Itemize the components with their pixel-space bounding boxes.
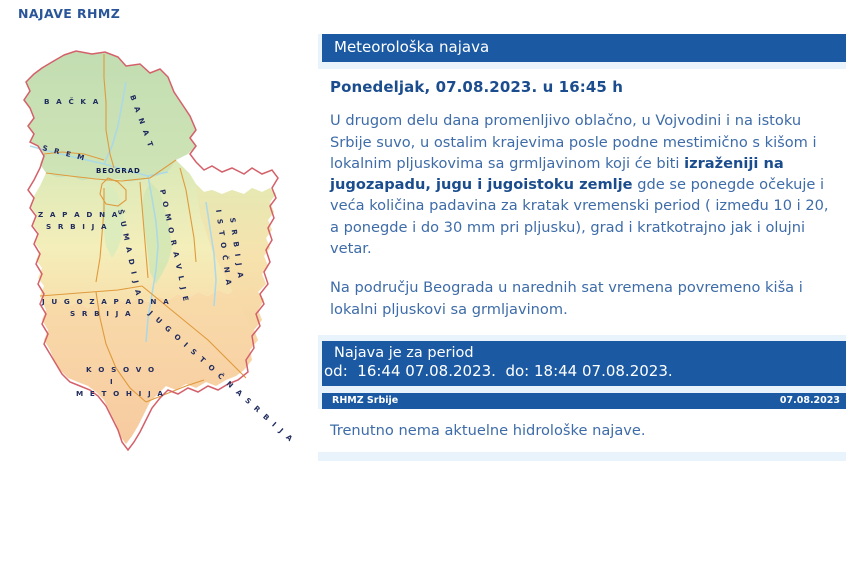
hydrological-section: Trenutno nema aktuelne hidrološke najave… bbox=[318, 409, 846, 452]
map-label-kosovo-3: M E T O H I J A bbox=[76, 389, 165, 398]
map-label-beograd: BEOGRAD bbox=[96, 167, 141, 175]
map-label-zapadna-srbija: Z A P A D N A bbox=[38, 210, 119, 219]
map-label-zapadna-srbija-2: S R B I J A bbox=[46, 222, 109, 231]
region-vojvodina-shape bbox=[24, 51, 196, 182]
source-date: 07.08.2023 bbox=[780, 395, 840, 406]
map-label-kosovo: K O S O V O bbox=[86, 365, 156, 374]
map-svg: B A Č K A B A N A T S R E M BEOGRAD Z A … bbox=[0, 42, 300, 462]
announcement-headline: Ponedeljak, 07.08.2023. u 16:45 h bbox=[330, 78, 846, 96]
meteorological-announcement-panel: Meteorološka najava Ponedeljak, 07.08.20… bbox=[318, 34, 846, 461]
announcement-header-wrap: Meteorološka najava bbox=[318, 34, 846, 69]
source-label: RHMZ Srbije bbox=[332, 395, 398, 406]
map-label-jugozapadna-srbija-line2: S R B I J A bbox=[70, 309, 133, 318]
announcement-paragraph-1: U drugom delu dana promenljivo oblačno, … bbox=[330, 110, 838, 259]
announcement-paragraph-2: Na području Beograda u narednih sat vrem… bbox=[330, 277, 838, 320]
source-bar-wrap: RHMZ Srbije 07.08.2023 bbox=[318, 391, 846, 409]
map-label-kosovo-2: I bbox=[110, 377, 115, 386]
announcement-header: Meteorološka najava bbox=[322, 34, 846, 62]
paragraph-spacer bbox=[330, 259, 846, 277]
map-label-backa: B A Č K A bbox=[44, 97, 100, 106]
serbia-regions-map: B A Č K A B A N A T S R E M BEOGRAD Z A … bbox=[0, 42, 300, 462]
source-bar: RHMZ Srbije 07.08.2023 bbox=[322, 393, 846, 409]
period-section: Najava je za period od: 16:44 07.08.2023… bbox=[322, 341, 846, 386]
period-section-wrap: Najava je za period od: 16:44 07.08.2023… bbox=[318, 335, 846, 391]
page-title: NAJAVE RHMZ bbox=[18, 6, 120, 21]
hydrological-text: Trenutno nema aktuelne hidrološke najave… bbox=[330, 422, 646, 439]
announcement-body: Ponedeljak, 07.08.2023. u 16:45 h U drug… bbox=[318, 69, 846, 322]
period-title: Najava je za period bbox=[322, 344, 846, 362]
map-label-jugozapadna-srbija: J U G O Z A P A D N A bbox=[41, 297, 171, 306]
period-range: od: 16:44 07.08.2023. do: 18:44 07.08.20… bbox=[322, 362, 846, 382]
panel-footer-strip bbox=[318, 452, 846, 461]
